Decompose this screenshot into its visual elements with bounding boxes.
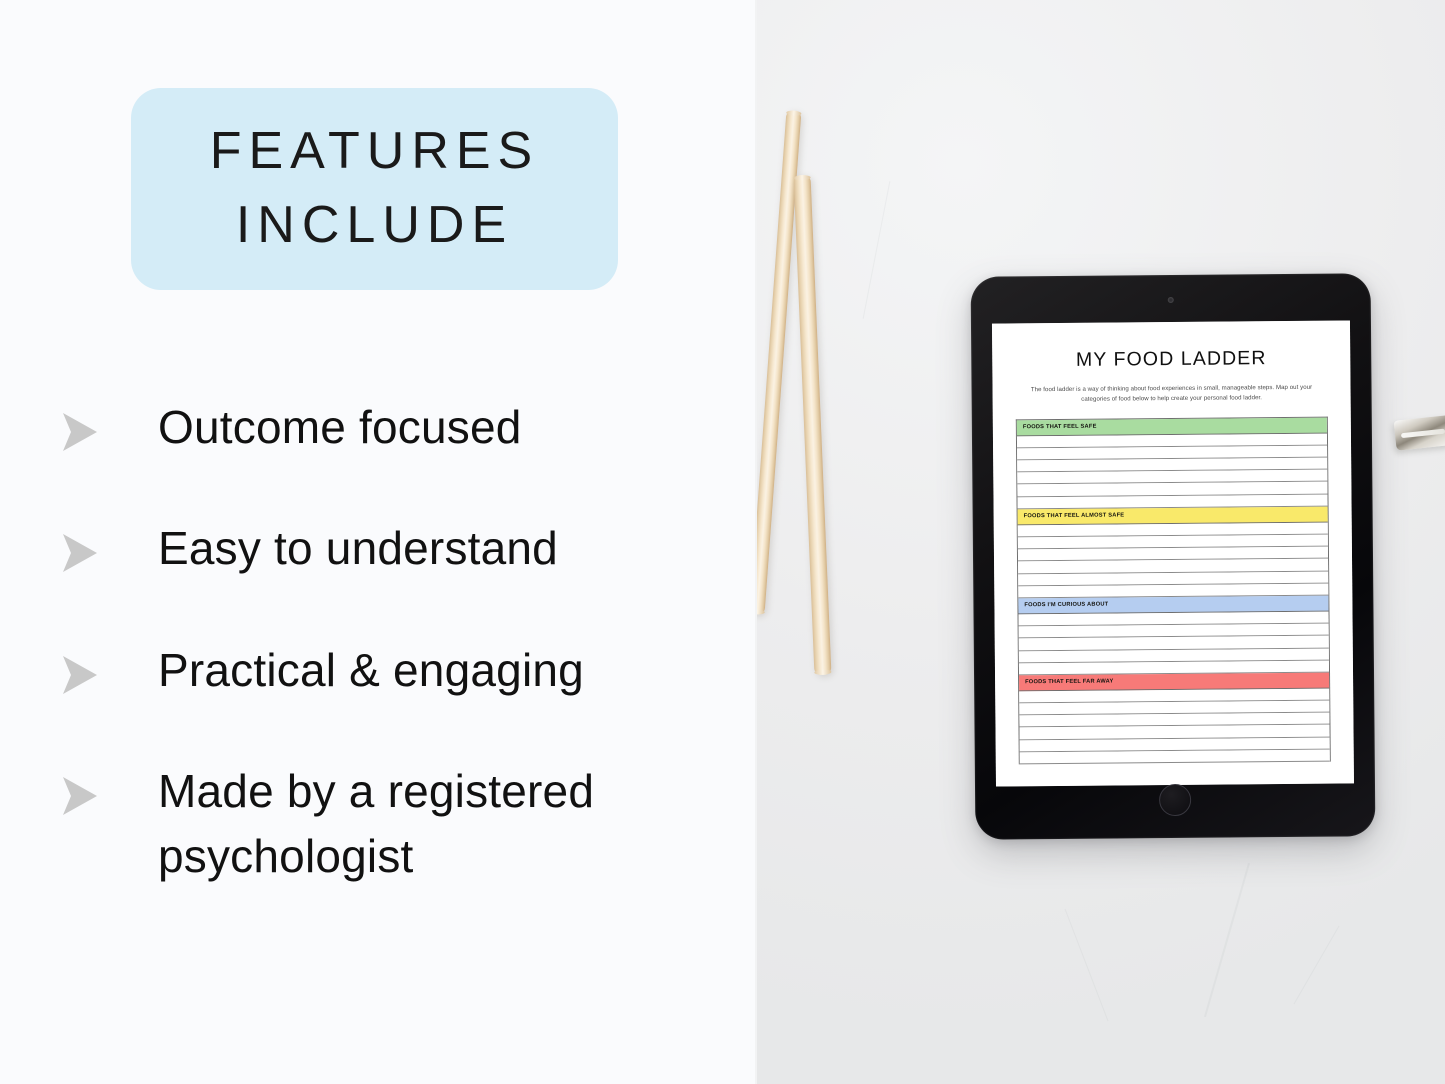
food-ladder-table: FOODS THAT FEEL SAFE FOODS THAT FEEL ALM…	[1016, 416, 1331, 764]
product-photo-panel: MY FOOD LADDER The food ladder is a way …	[756, 0, 1445, 1084]
features-badge-line-1: FEATURES	[210, 115, 540, 189]
tablet-screen: MY FOOD LADDER The food ladder is a way …	[992, 320, 1354, 786]
category-label: FOODS I'M CURIOUS ABOUT	[1024, 602, 1108, 609]
metal-pen-clip-icon	[1394, 415, 1445, 450]
product-listing-image: FEATURES INCLUDE Outcome focused Easy	[0, 0, 1445, 1084]
surface-mark	[1204, 863, 1250, 1017]
feature-label: Easy to understand	[158, 516, 558, 581]
features-badge: FEATURES INCLUDE	[131, 88, 618, 290]
dowel-cap	[814, 669, 831, 675]
feature-list: Outcome focused Easy to understand Pract…	[56, 395, 746, 890]
list-item: Easy to understand	[56, 516, 746, 581]
feature-label: Outcome focused	[158, 395, 522, 460]
dowel-cap	[756, 609, 765, 615]
dowel-cap	[794, 175, 811, 181]
dowel-cap	[786, 110, 801, 116]
panel-divider	[755, 0, 757, 1084]
pen-clip-slot	[1401, 429, 1445, 439]
features-panel: FEATURES INCLUDE Outcome focused Easy	[0, 0, 756, 1084]
surface-mark	[1065, 909, 1109, 1021]
home-button-icon[interactable]	[1159, 784, 1191, 816]
list-item: Outcome focused	[56, 395, 746, 460]
worksheet-description: The food ladder is a way of thinking abo…	[1022, 383, 1322, 405]
category-label: FOODS THAT FEEL FAR AWAY	[1025, 679, 1113, 686]
surface-mark	[863, 181, 891, 319]
feature-label: Made by a registered psychologist	[158, 759, 746, 890]
category-label: FOODS THAT FEEL SAFE	[1023, 424, 1097, 431]
front-camera-icon	[1168, 297, 1174, 303]
worksheet-title: MY FOOD LADDER	[1009, 347, 1333, 373]
list-item: Practical & engaging	[56, 638, 746, 703]
arrow-right-icon	[56, 773, 102, 819]
write-line[interactable]	[1020, 749, 1330, 764]
list-item: Made by a registered psychologist	[56, 759, 746, 890]
feature-label: Practical & engaging	[158, 638, 584, 703]
category-label: FOODS THAT FEEL ALMOST SAFE	[1024, 513, 1125, 520]
arrow-right-icon	[56, 652, 102, 698]
food-ladder-worksheet: MY FOOD LADDER The food ladder is a way …	[992, 320, 1354, 786]
features-badge-line-2: INCLUDE	[236, 189, 513, 263]
arrow-right-icon	[56, 530, 102, 576]
surface-mark	[1294, 926, 1340, 1004]
wooden-dowel-icon	[794, 175, 832, 675]
tablet-device: MY FOOD LADDER The food ladder is a way …	[971, 273, 1376, 839]
arrow-right-icon	[56, 409, 102, 455]
